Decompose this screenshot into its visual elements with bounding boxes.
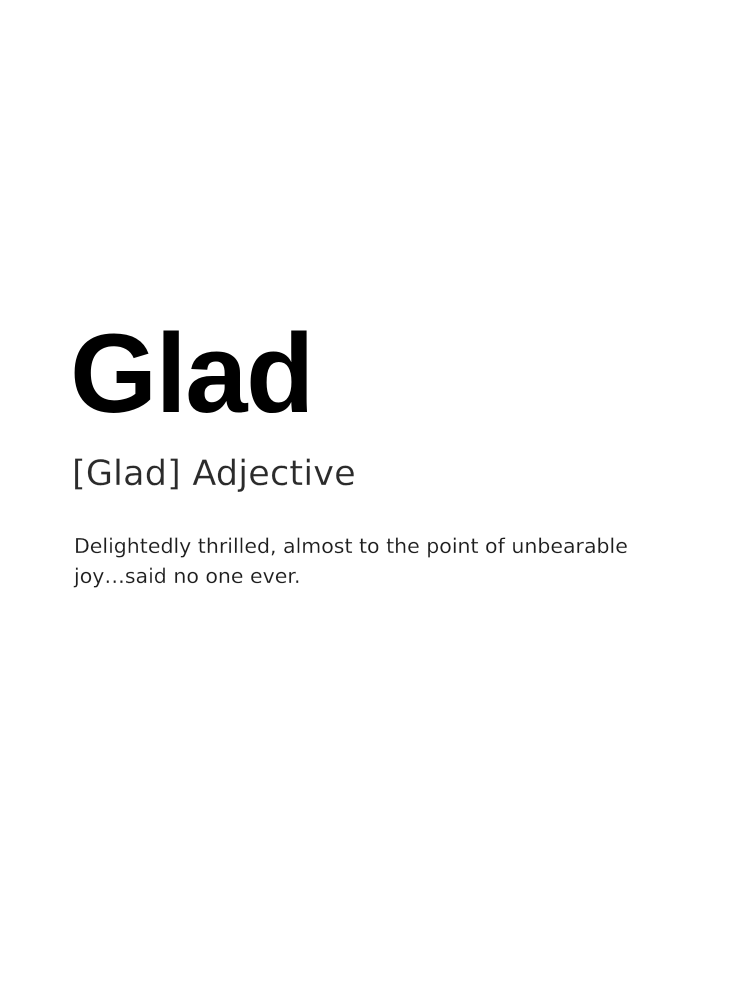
definition-poster: Glad [Glad] Adjective Delightedly thrill… xyxy=(0,0,748,1000)
page-title: Glad xyxy=(70,318,690,430)
definition-block: Glad [Glad] Adjective Delightedly thrill… xyxy=(70,318,690,591)
word-definition-text: Delightedly thrilled, almost to the poin… xyxy=(74,531,634,591)
word-pronunciation-part-of-speech: [Glad] Adjective xyxy=(72,454,690,494)
